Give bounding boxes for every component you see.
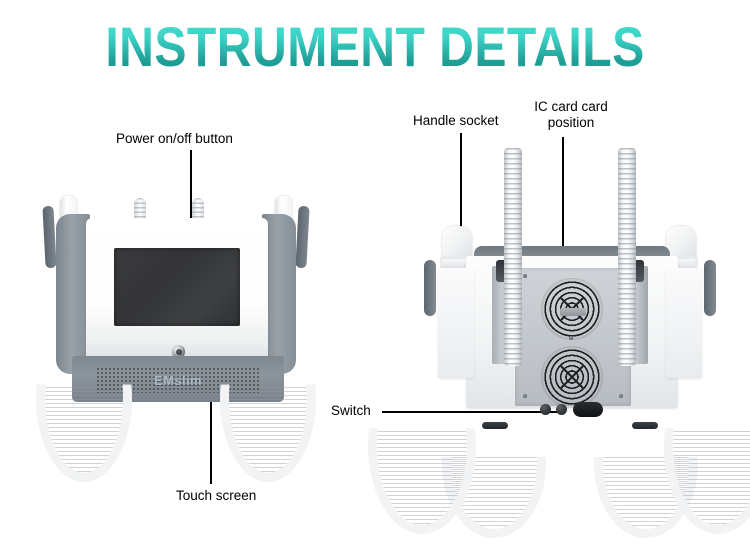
product-back-view	[420, 208, 720, 438]
applicator-cable-back-right-upper	[618, 148, 636, 366]
ic-card-line-1: IC card card	[534, 99, 608, 114]
side-wing-back-right	[666, 268, 702, 378]
machine-foot-right	[632, 422, 658, 429]
handle-hook-front-left	[42, 206, 56, 268]
machine-foot-left	[482, 422, 508, 429]
callout-label-touch-screen: Touch screen	[176, 488, 256, 504]
panel-screw	[523, 394, 527, 398]
panel-screw	[569, 336, 573, 340]
handle-hook-back-right	[704, 260, 716, 316]
callout-label-ic-card: IC card card position	[516, 99, 626, 131]
rear-access-panel	[515, 268, 631, 406]
infographic-canvas: INSTRUMENT DETAILS Power on/off button H…	[0, 0, 750, 557]
touch-screen-display[interactable]	[114, 248, 240, 326]
handle-hook-back-left	[424, 260, 436, 316]
power-socket-left[interactable]	[540, 404, 551, 415]
applicator-cable-back-outer-left-loop	[368, 358, 476, 534]
side-panel-front-left	[56, 214, 90, 374]
panel-screw	[523, 274, 527, 278]
applicator-cable-back-left-upper	[504, 148, 522, 366]
ic-card-line-2: position	[548, 115, 595, 130]
machine-body-front	[86, 218, 268, 358]
panel-screw	[619, 394, 623, 398]
callout-label-power-button: Power on/off button	[116, 131, 233, 147]
callout-label-handle-socket: Handle socket	[413, 113, 499, 129]
callout-label-switch: Switch	[331, 403, 371, 419]
side-wing-back-left	[438, 268, 474, 378]
product-front-view: EMslim	[42, 196, 310, 406]
cooling-fan-grille-bottom	[541, 346, 603, 408]
ic-card-slot[interactable]	[560, 308, 586, 316]
power-socket-right[interactable]	[556, 404, 567, 415]
page-title: INSTRUMENT DETAILS	[53, 18, 698, 76]
main-power-switch[interactable]	[573, 402, 603, 417]
handle-hook-front-right	[295, 206, 309, 268]
